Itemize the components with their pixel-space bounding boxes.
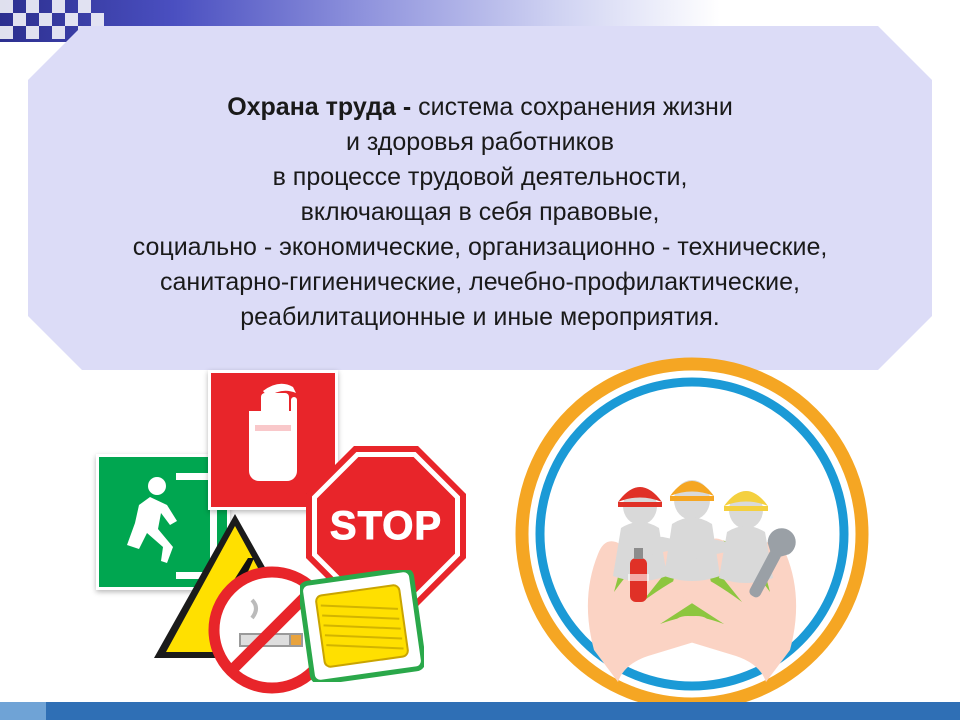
bottom-bar [0,702,960,720]
safety-illustrations: STOP [0,352,960,720]
stop-sign-label: STOP [330,504,442,549]
definition-text: Охрана труда - система сохранения жизни … [28,26,932,370]
slide: Охрана труда - система сохранения жизни … [0,0,960,720]
emblem-icon [508,350,876,718]
bottom-bar-accent [0,702,46,720]
definition-line-3: в процессе трудовой деятельности, [273,160,688,195]
definition-line-4: включающая в себя правовые, [301,195,660,230]
yellow-warning-sign [300,570,424,682]
definition-line-5: социально - экономические, организационн… [133,230,828,265]
workers-in-hands-emblem [508,350,876,718]
definition-line-7: реабилитационные и иные мероприятия. [240,300,719,335]
definition-line-6: санитарно-гигиенические, лечебно-профила… [160,265,800,300]
definition-line-2: и здоровья работников [346,125,614,160]
yellow-sign-icon [300,570,424,682]
definition-term: Охрана труда - [227,93,418,121]
definition-line-1-rest: система сохранения жизни [418,93,733,121]
definition-line-1: Охрана труда - система сохранения жизни [227,90,733,125]
